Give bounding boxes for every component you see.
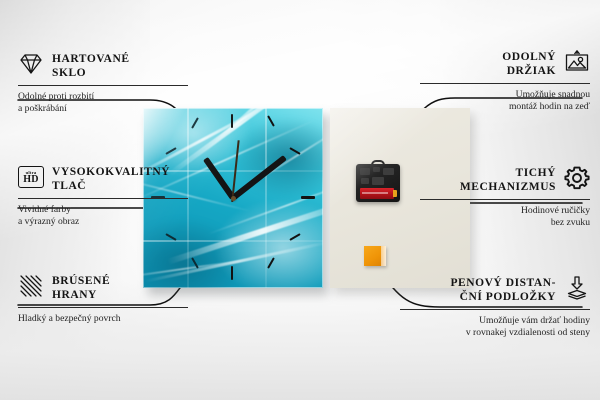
- feature-description: Umožňuje vám držať hodiny v rovnakej vzd…: [400, 315, 590, 339]
- feature-description: Hodinové ručičky bez zvuku: [420, 205, 590, 229]
- feature-divider: [420, 199, 590, 200]
- mechanism-battery: [360, 188, 394, 199]
- feature-title: VYSOKOKVALITNÝ TLAČ: [52, 165, 188, 193]
- feature-description: Odolné proti rozbití a poškrábání: [18, 91, 188, 115]
- ultra-hd-badge-large-text: HD: [23, 175, 39, 185]
- feature-description: Umožňuje snadnou montáž hodin na zeď: [420, 89, 590, 113]
- feature-divider: [18, 85, 188, 86]
- feature-high-quality-print: ultra HD VYSOKOKVALITNÝ TLAČ Vividné far…: [18, 165, 188, 228]
- feature-description: Hladký a bezpečný povrch: [18, 313, 188, 325]
- ultra-hd-badge-icon: ultra HD: [18, 166, 44, 188]
- feature-durable-hanger: ODOLNÝ DRŽIAK Umožňuje snadnou montáž ho…: [420, 50, 590, 113]
- gear-icon: [564, 165, 590, 191]
- feature-foam-spacers: PENOVÝ DISTAN- ČNÍ PODLOŽKY Umožňuje vám…: [400, 276, 590, 339]
- feature-divider: [18, 307, 188, 308]
- feature-title: TICHÝ MECHANIZMUS: [420, 166, 556, 194]
- feature-title: BRÚSENÉ HRANY: [52, 274, 188, 302]
- feature-polished-edges: BRÚSENÉ HRANY Hladký a bezpečný povrch: [18, 274, 188, 325]
- polished-edges-icon: [18, 273, 44, 299]
- feature-description: Vividné farby a výrazný obraz: [18, 204, 188, 228]
- clock-mechanism: [356, 160, 400, 202]
- mechanism-hanger-hook: [371, 160, 385, 169]
- feature-title: ODOLNÝ DRŽIAK: [420, 50, 556, 78]
- clock-center-hub: [231, 196, 236, 201]
- picture-frame-icon: [564, 49, 590, 75]
- feature-divider: [400, 309, 590, 310]
- feature-divider: [420, 83, 590, 84]
- foam-spacer-pad: [364, 246, 386, 266]
- diamond-icon: [18, 51, 44, 77]
- feature-silent-mechanism: TICHÝ MECHANIZMUS Hodinové ručičky bez z…: [420, 166, 590, 229]
- mechanism-housing: [356, 164, 400, 202]
- feature-title: PENOVÝ DISTAN- ČNÍ PODLOŽKY: [400, 276, 556, 304]
- feature-tempered-glass: HARTOVANÉ SKLO Odolné proti rozbití a po…: [18, 52, 188, 115]
- feature-divider: [18, 198, 188, 199]
- infographic-canvas: HARTOVANÉ SKLO Odolné proti rozbití a po…: [0, 0, 600, 400]
- press-layers-icon: [564, 275, 590, 301]
- feature-title: HARTOVANÉ SKLO: [52, 52, 188, 80]
